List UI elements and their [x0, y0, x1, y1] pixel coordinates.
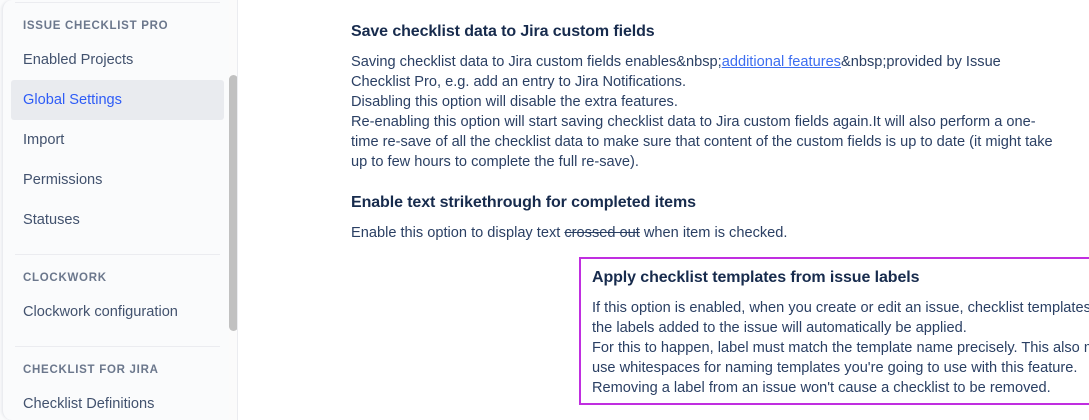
- description-line-3: Removing a label from an issue won't cau…: [592, 378, 1089, 398]
- setting-description: If this option is enabled, when you crea…: [592, 298, 1089, 398]
- settings-content: Save checklist data to Jira custom field…: [238, 0, 1089, 420]
- setting-apply-templates: Apply checklist templates from issue lab…: [581, 259, 1089, 398]
- sidebar-item-statuses[interactable]: Statuses: [11, 200, 224, 240]
- sidebar: ISSUE CHECKLIST PRO Enabled Projects Glo…: [0, 0, 238, 420]
- settings-page: ISSUE CHECKLIST PRO Enabled Projects Glo…: [0, 0, 1089, 420]
- sidebar-group-title-clockwork: CLOCKWORK: [3, 255, 232, 292]
- sidebar-item-checklist-definitions[interactable]: Checklist Definitions: [11, 384, 224, 420]
- sidebar-item-enabled-projects[interactable]: Enabled Projects: [11, 40, 224, 80]
- description-text-before: Enable this option to display text: [351, 225, 564, 241]
- sidebar-group-title-issue-checklist-pro: ISSUE CHECKLIST PRO: [3, 3, 232, 40]
- setting-apply-templates-highlight-box: Apply checklist templates from issue lab…: [579, 257, 1089, 405]
- setting-description: Saving checklist data to Jira custom fie…: [351, 52, 1061, 172]
- setting-save-checklist-data: Save checklist data to Jira custom field…: [351, 21, 1061, 172]
- additional-features-link[interactable]: additional features: [722, 54, 841, 70]
- description-text-after: when item is checked.: [640, 225, 788, 241]
- setting-text-strikethrough: Enable text strikethrough for completed …: [351, 192, 1061, 243]
- sidebar-panel: ISSUE CHECKLIST PRO Enabled Projects Glo…: [2, 0, 232, 420]
- setting-heading: Apply checklist templates from issue lab…: [592, 267, 1089, 289]
- description-line-2: For this to happen, label must match the…: [592, 338, 1089, 378]
- setting-heading: Save checklist data to Jira custom field…: [351, 21, 1061, 43]
- description-line-1: Enable this option to display text cross…: [351, 223, 1061, 243]
- sidebar-item-permissions[interactable]: Permissions: [11, 160, 224, 200]
- sidebar-group-title-checklist-for-jira: CHECKLIST FOR JIRA: [3, 347, 232, 384]
- description-text-before-link: Saving checklist data to Jira custom fie…: [351, 54, 722, 70]
- sidebar-item-import[interactable]: Import: [11, 120, 224, 160]
- sidebar-item-global-settings[interactable]: Global Settings: [11, 80, 224, 120]
- setting-description: Enable this option to display text cross…: [351, 223, 1061, 243]
- struck-text-sample: crossed out: [564, 225, 639, 241]
- setting-heading: Enable text strikethrough for completed …: [351, 192, 1061, 214]
- sidebar-item-clockwork-configuration[interactable]: Clockwork configuration: [11, 292, 224, 332]
- description-line-2: Disabling this option will disable the e…: [351, 92, 1061, 112]
- description-line-3: Re-enabling this option will start savin…: [351, 112, 1061, 172]
- description-line-1: If this option is enabled, when you crea…: [592, 298, 1089, 338]
- description-line-1: Saving checklist data to Jira custom fie…: [351, 52, 1061, 92]
